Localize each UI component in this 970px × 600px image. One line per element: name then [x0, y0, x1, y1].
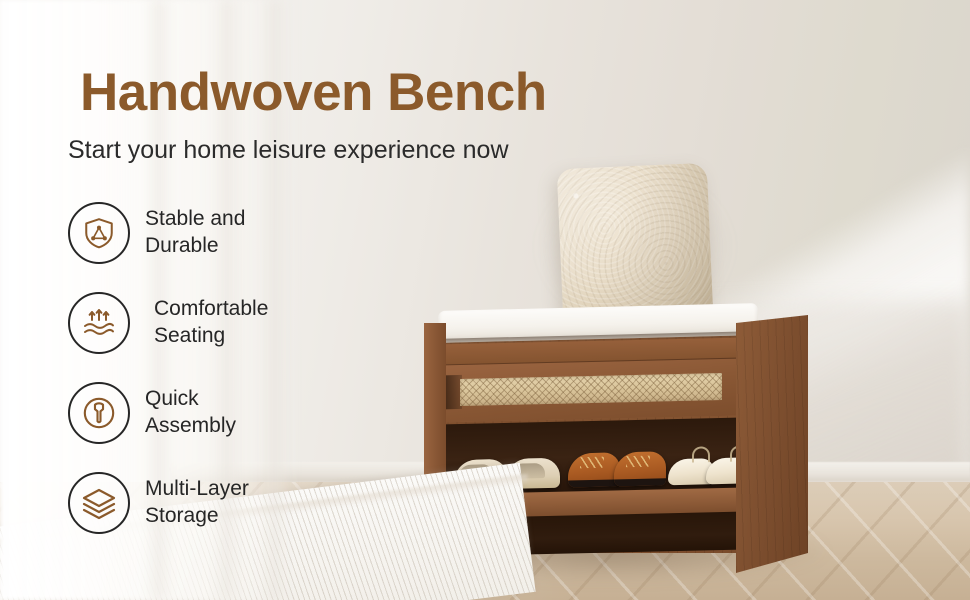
- flat-strap: [692, 446, 710, 462]
- feature-item-comfortable-seating: Comfortable Seating: [68, 288, 428, 358]
- feature-item-multi-layer-storage: Multi-Layer Storage: [68, 468, 428, 538]
- throw-pillow: [557, 163, 713, 321]
- page-title: Handwoven Bench: [80, 62, 547, 123]
- shoe-lace: [580, 457, 604, 469]
- feature-list: Stable and Durable Comfortable Seating: [68, 198, 428, 558]
- rattan-cane-panel: [460, 373, 722, 406]
- feature-label: Comfortable Seating: [154, 296, 268, 350]
- bench-drawer: [444, 358, 736, 423]
- oxford-left: [568, 452, 620, 487]
- arrows-waves-icon: [68, 292, 130, 354]
- wrench-circle-icon: [68, 382, 130, 444]
- feature-label: Quick Assembly: [145, 386, 236, 440]
- oxford-right: [614, 451, 666, 486]
- page-subtitle: Start your home leisure experience now: [68, 136, 509, 165]
- bench-side-panel: [736, 315, 808, 573]
- feature-item-stable-durable: Stable and Durable: [68, 198, 428, 268]
- feature-label: Multi-Layer Storage: [145, 476, 249, 530]
- shoe-lace: [626, 456, 650, 468]
- stacked-layers-icon: [68, 472, 130, 534]
- product-banner: Handwoven Bench Start your home leisure …: [0, 0, 970, 600]
- feature-label: Stable and Durable: [145, 206, 245, 260]
- flat-strap: [730, 445, 736, 461]
- feature-item-quick-assembly: Quick Assembly: [68, 378, 428, 448]
- banner-content: Handwoven Bench Start your home leisure …: [0, 0, 430, 600]
- pillow-shading: [557, 163, 713, 321]
- shield-triangle-icon: [68, 202, 130, 264]
